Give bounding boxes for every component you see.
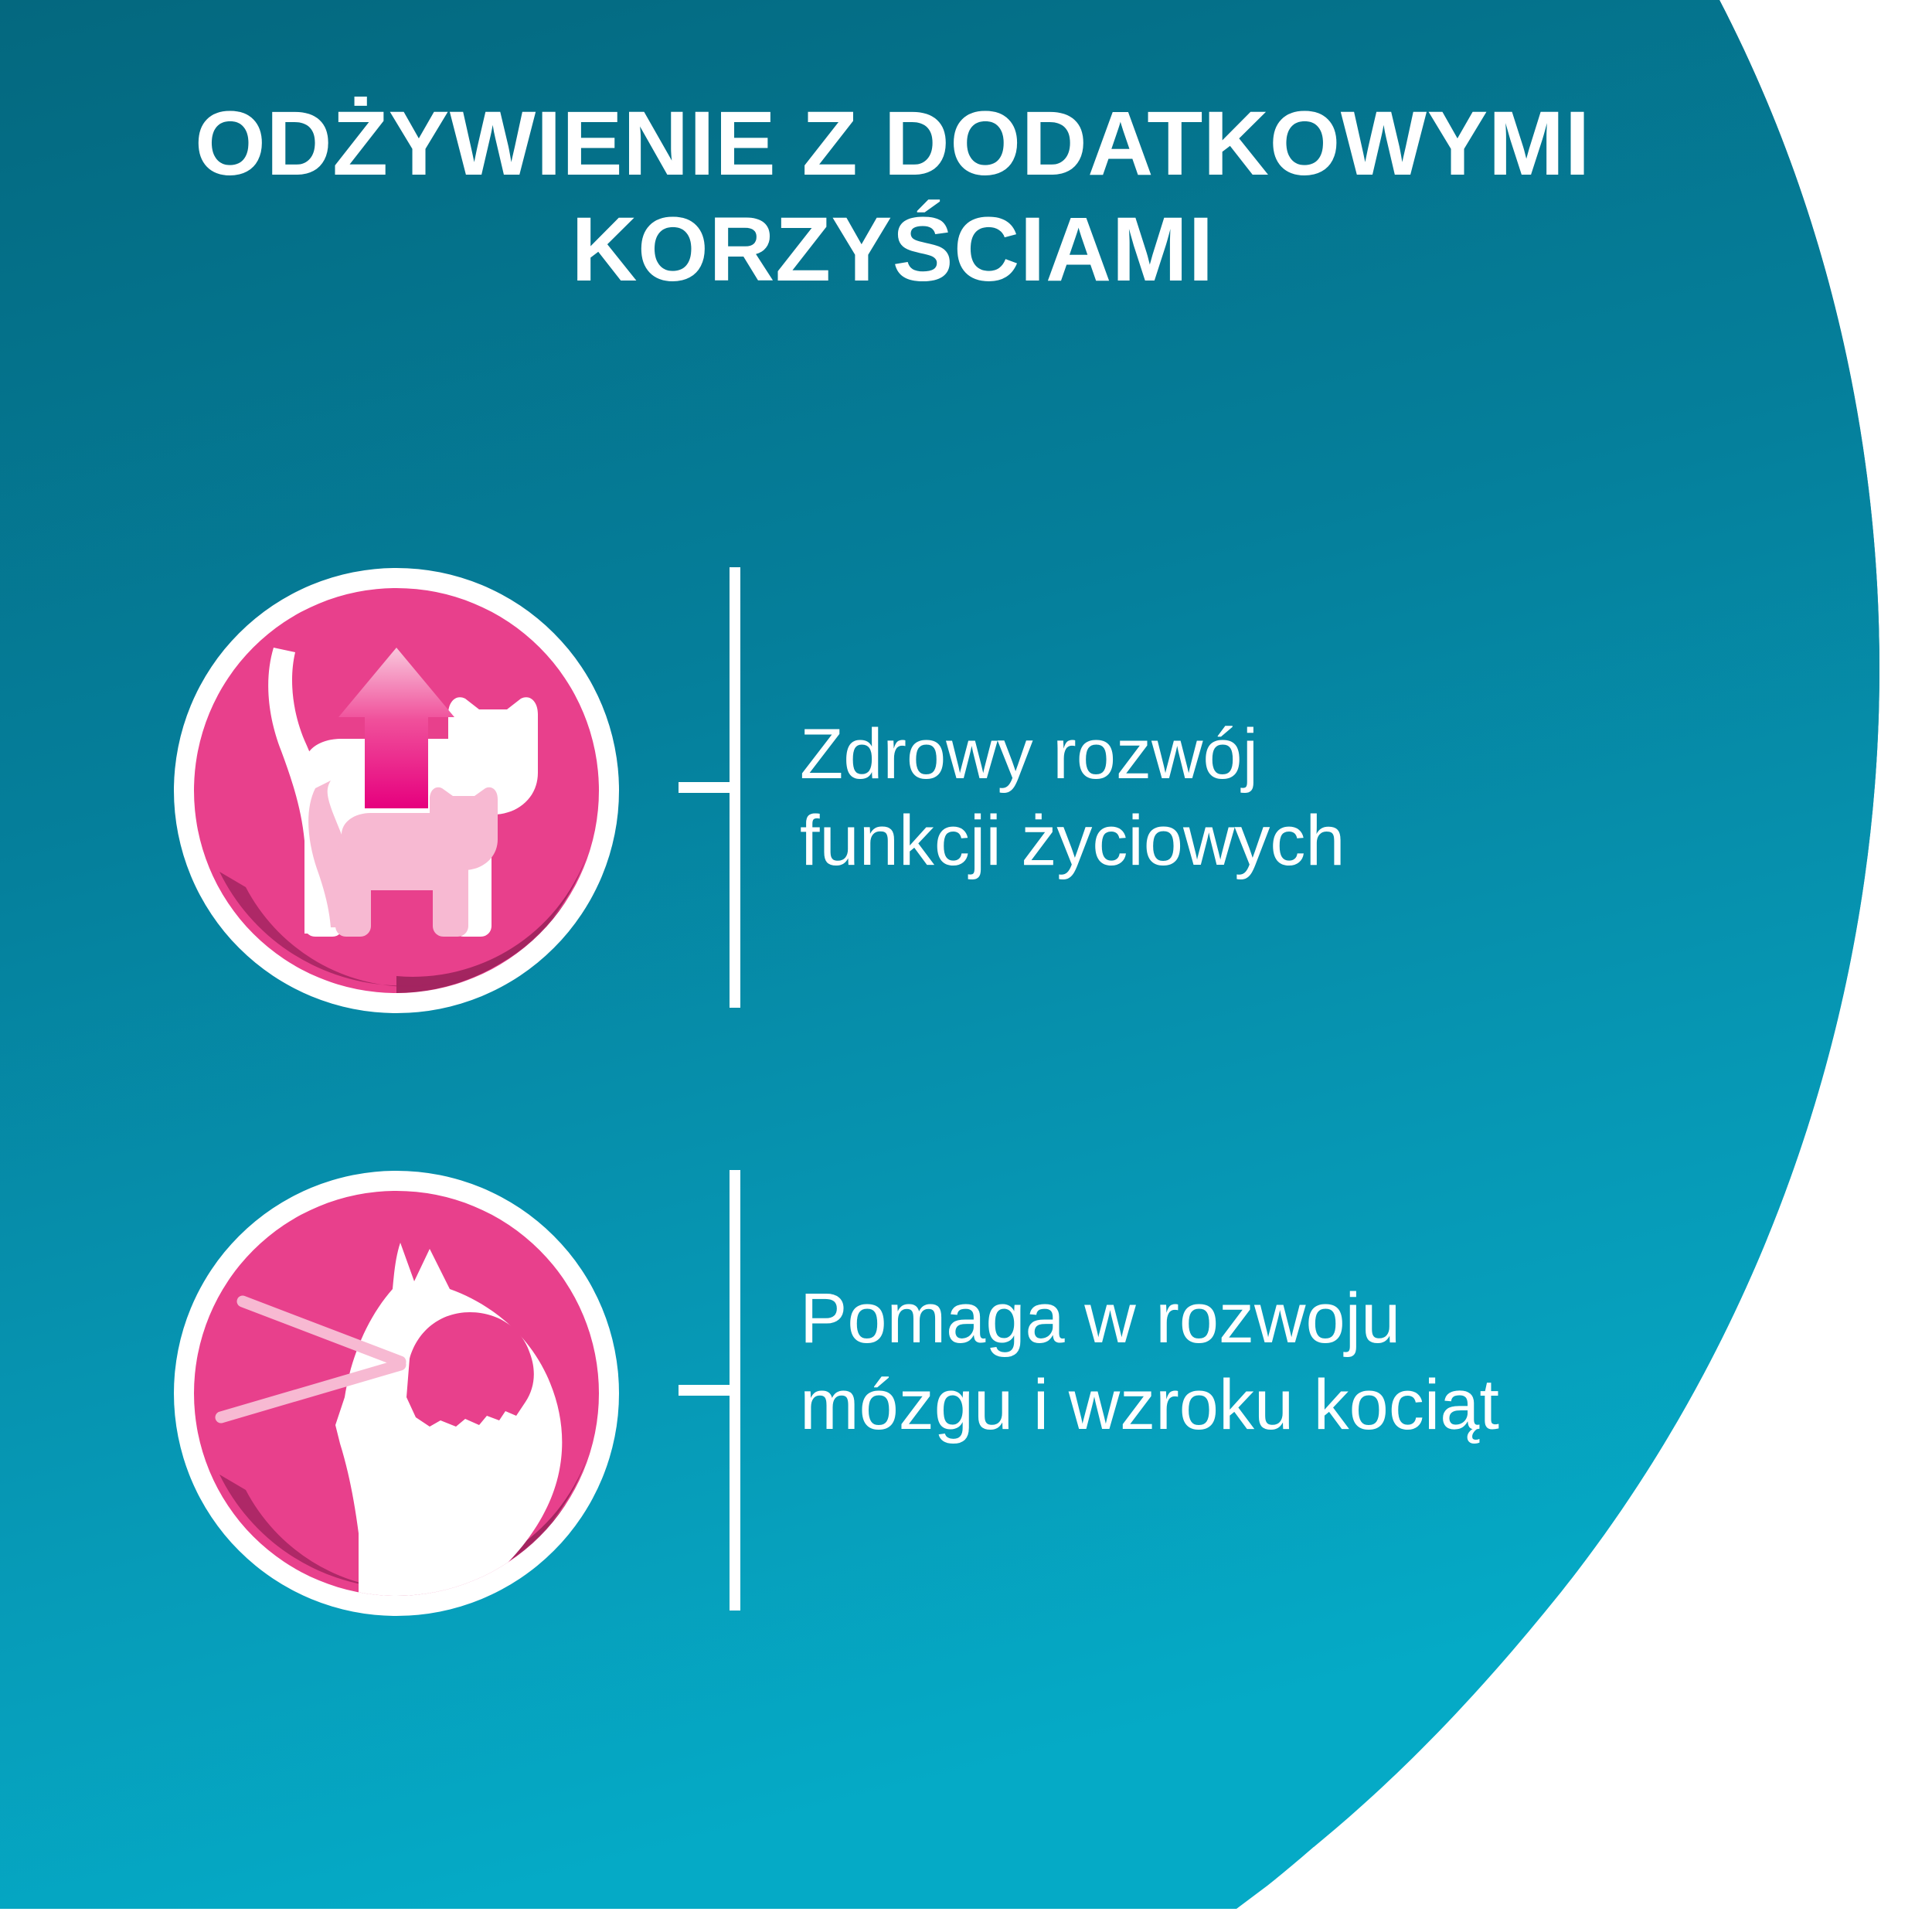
connector-line xyxy=(679,556,740,1020)
connector-line xyxy=(679,1159,740,1623)
benefit-row: Pomaga w rozwoju mózgu i wzroku kociąt xyxy=(0,1159,1932,1623)
cat-head-brain-vision-icon xyxy=(168,1165,624,1621)
connector-horizontal-stub xyxy=(679,1385,734,1396)
growing-kitten-arrow-icon xyxy=(168,563,624,1019)
connector-horizontal-stub xyxy=(679,782,734,793)
benefit-row: Zdrowy rozwój funkcji życiowych xyxy=(0,556,1932,1020)
infographic-canvas: ODŻYWIENIE Z DODATKOWYMI KORZYŚCIAMI xyxy=(0,0,1932,1932)
page-title: ODŻYWIENIE Z DODATKOWYMI KORZYŚCIAMI xyxy=(93,91,1692,303)
benefit-label: Zdrowy rozwój funkcji życiowych xyxy=(800,711,1712,884)
benefit-label: Pomaga w rozwoju mózgu i wzroku kociąt xyxy=(800,1275,1712,1448)
